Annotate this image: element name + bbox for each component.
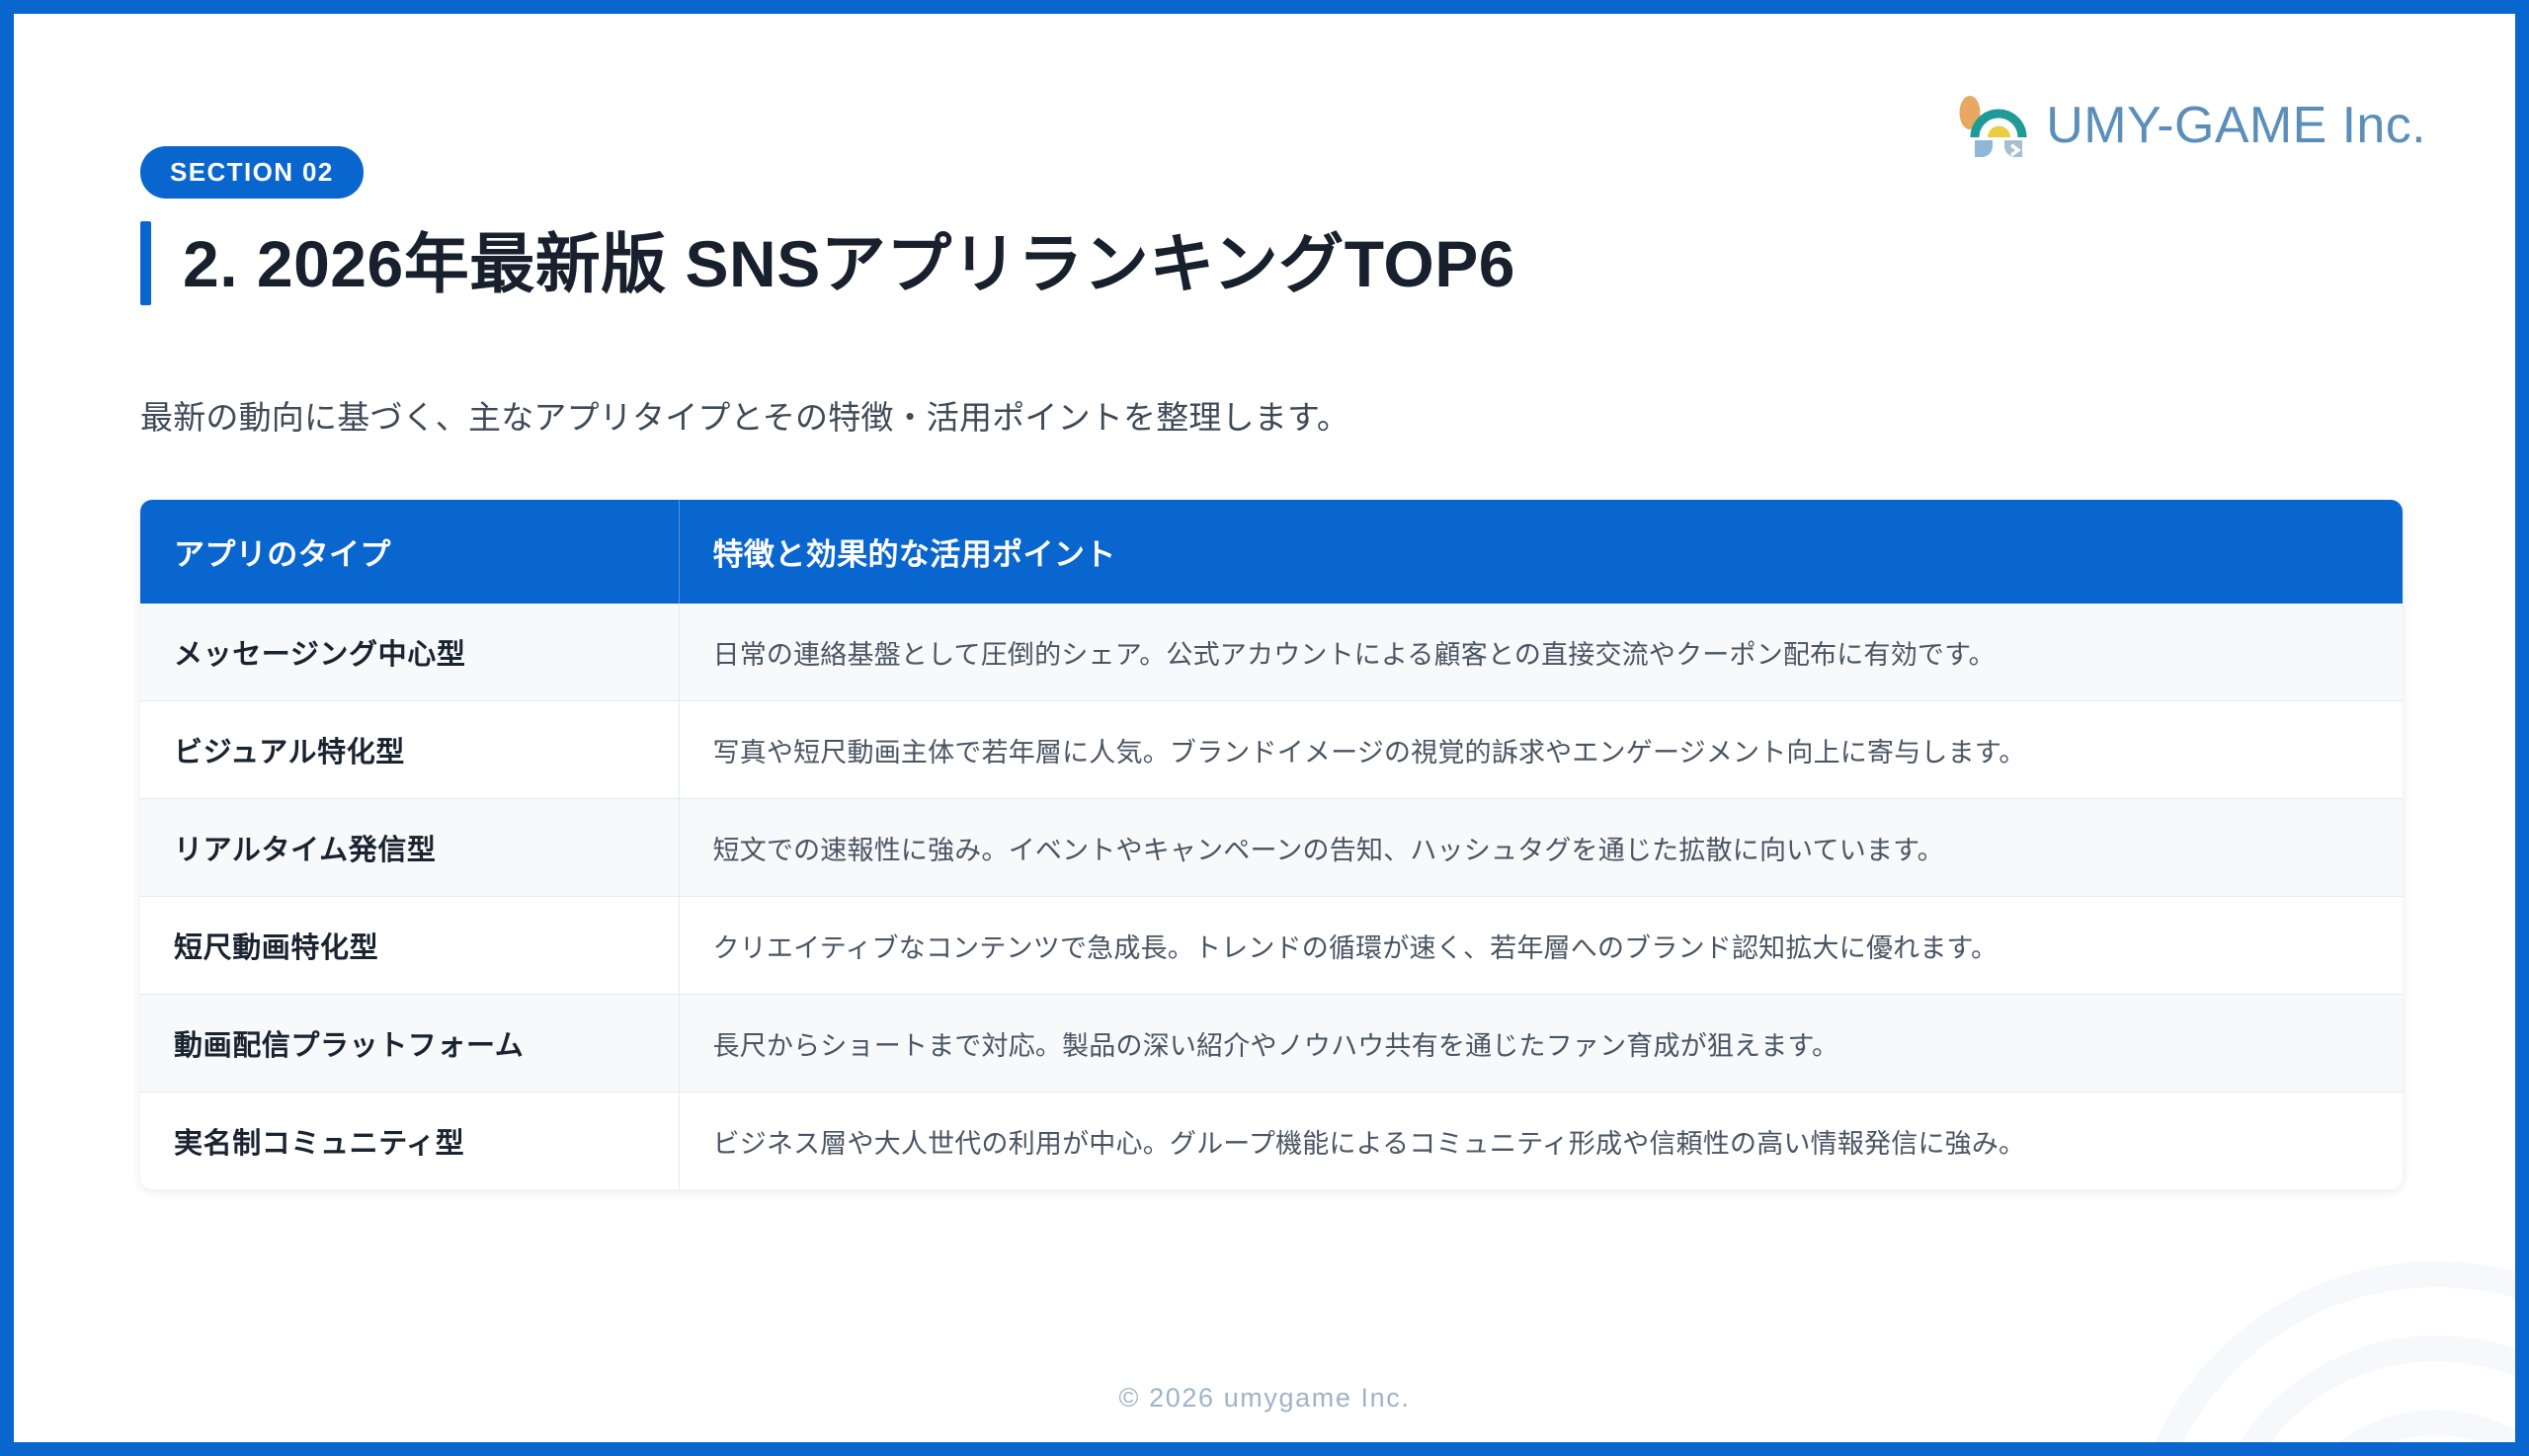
table-row: ビジュアル特化型 写真や短尺動画主体で若年層に人気。ブランドイメージの視覚的訴求…	[140, 701, 2403, 799]
cell-type: 短尺動画特化型	[140, 897, 679, 995]
table-row: リアルタイム発信型 短文での速報性に強み。イベントやキャンペーンの告知、ハッシュ…	[140, 799, 2403, 897]
footer-copyright: © 2026 umygame Inc.	[14, 1383, 2515, 1414]
cell-type: リアルタイム発信型	[140, 799, 679, 897]
cell-desc: ビジネス層や大人世代の利用が中心。グループ機能によるコミュニティ形成や信頼性の高…	[679, 1092, 2403, 1190]
company-logo: UMY-GAME Inc.	[1955, 91, 2426, 160]
table-row: 動画配信プラットフォーム 長尺からショートまで対応。製品の深い紹介やノウハウ共有…	[140, 995, 2403, 1092]
cell-type: メッセージング中心型	[140, 604, 679, 701]
logo-wordmark: UMY-GAME Inc.	[2046, 96, 2426, 155]
cell-desc: 短文での速報性に強み。イベントやキャンペーンの告知、ハッシュタグを通じた拡散に向…	[679, 799, 2403, 897]
table-row: 実名制コミュニティ型 ビジネス層や大人世代の利用が中心。グループ機能によるコミュ…	[140, 1092, 2403, 1190]
title-accent-bar	[140, 221, 151, 305]
page-title: 2. 2026年最新版 SNSアプリランキングTOP6	[183, 221, 1515, 305]
cell-type: 実名制コミュニティ型	[140, 1092, 679, 1190]
app-type-table: アプリのタイプ 特徴と効果的な活用ポイント メッセージング中心型 日常の連絡基盤…	[140, 500, 2403, 1189]
column-header-desc: 特徴と効果的な活用ポイント	[679, 500, 2403, 604]
cell-desc: 長尺からショートまで対応。製品の深い紹介やノウハウ共有を通じたファン育成が狙えま…	[679, 995, 2403, 1092]
lead-paragraph: 最新の動向に基づく、主なアプリタイプとその特徴・活用ポイントを整理します。	[140, 391, 1349, 439]
cell-type: 動画配信プラットフォーム	[140, 995, 679, 1092]
column-header-type: アプリのタイプ	[140, 500, 679, 604]
table-row: メッセージング中心型 日常の連絡基盤として圧倒的シェア。公式アカウントによる顧客…	[140, 604, 2403, 701]
section-badge: SECTION 02	[140, 146, 364, 199]
slide: UMY-GAME Inc. SECTION 02 2. 2026年最新版 SNS…	[14, 14, 2515, 1442]
table-header-row: アプリのタイプ 特徴と効果的な活用ポイント	[140, 500, 2403, 604]
table-row: 短尺動画特化型 クリエイティブなコンテンツで急成長。トレンドの循環が速く、若年層…	[140, 897, 2403, 995]
cell-desc: 日常の連絡基盤として圧倒的シェア。公式アカウントによる顧客との直接交流やクーポン…	[679, 604, 2403, 701]
page-title-group: 2. 2026年最新版 SNSアプリランキングTOP6	[140, 221, 1515, 305]
cell-desc: クリエイティブなコンテンツで急成長。トレンドの循環が速く、若年層へのブランド認知…	[679, 897, 2403, 995]
cell-type: ビジュアル特化型	[140, 701, 679, 799]
umy-game-logo-icon	[1955, 91, 2030, 160]
cell-desc: 写真や短尺動画主体で若年層に人気。ブランドイメージの視覚的訴求やエンゲージメント…	[679, 701, 2403, 799]
